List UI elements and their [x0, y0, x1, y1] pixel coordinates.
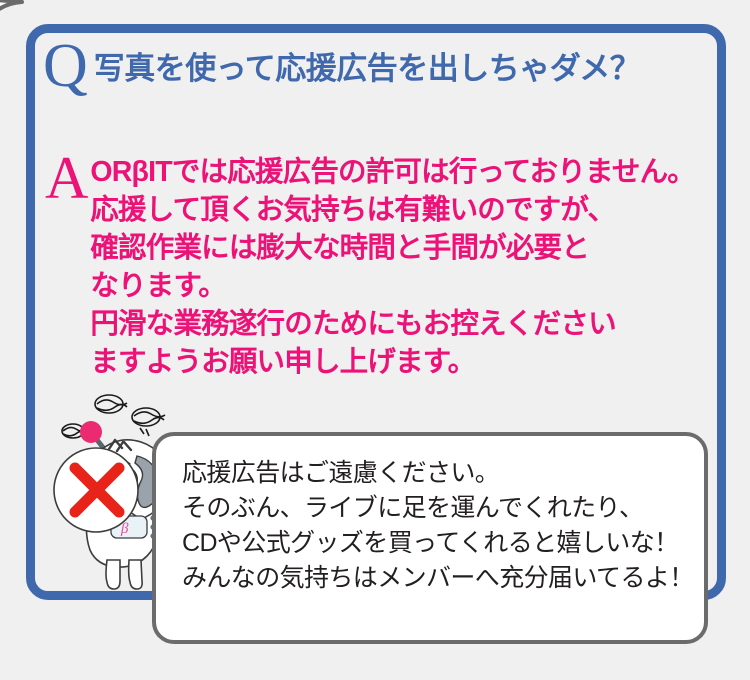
question-block: Q 写真を使って応援広告を出しちゃダメ？	[43, 39, 707, 97]
answer-line: ますようお願い申し上げます。	[90, 343, 695, 381]
anger-scribble-icon	[62, 395, 165, 438]
answer-block: A ORβITでは応援広告の許可は行っておりません。 応援して頂くお気持ちは有難…	[45, 141, 713, 381]
answer-line: なります。	[90, 267, 695, 305]
bubble-line: みんなの気持ちはメンバーへ充分届いてるよ！	[182, 561, 696, 596]
answer-marker: A	[45, 151, 90, 205]
speech-bubble: 応援広告はご遠慮ください。 そのぶん、ライブに足を運んでくれたり、 CDや公式グ…	[152, 432, 708, 644]
bubble-line: 応援広告はご遠慮ください。	[182, 456, 696, 491]
answer-text: ORβITでは応援広告の許可は行っておりません。 応援して頂くお気持ちは有難いの…	[90, 153, 695, 381]
antenna-icon	[80, 421, 105, 450]
prohibition-sign	[54, 448, 138, 532]
answer-line: 応援して頂くお気持ちは有難いのですが、	[90, 191, 695, 229]
answer-line: 確認作業には膨大な時間と手間が必要と	[90, 229, 695, 267]
speech-bubble-text: 応援広告はご遠慮ください。 そのぶん、ライブに足を運んでくれたり、 CDや公式グ…	[182, 456, 696, 596]
speech-bubble-tail	[0, 0, 26, 116]
bubble-line: CDや公式グッズを買ってくれると嬉しいな！	[182, 526, 696, 561]
antenna-ball-icon	[80, 421, 102, 443]
question-text: 写真を使って応援広告を出しちゃダメ？	[94, 49, 641, 89]
question-marker: Q	[43, 35, 94, 97]
bubble-line: そのぶん、ライブに足を運んでくれたり、	[182, 491, 696, 526]
answer-line: 円滑な業務遂行のためにもお控えください	[90, 305, 695, 343]
answer-line: ORβITでは応援広告の許可は行っておりません。	[90, 153, 695, 191]
